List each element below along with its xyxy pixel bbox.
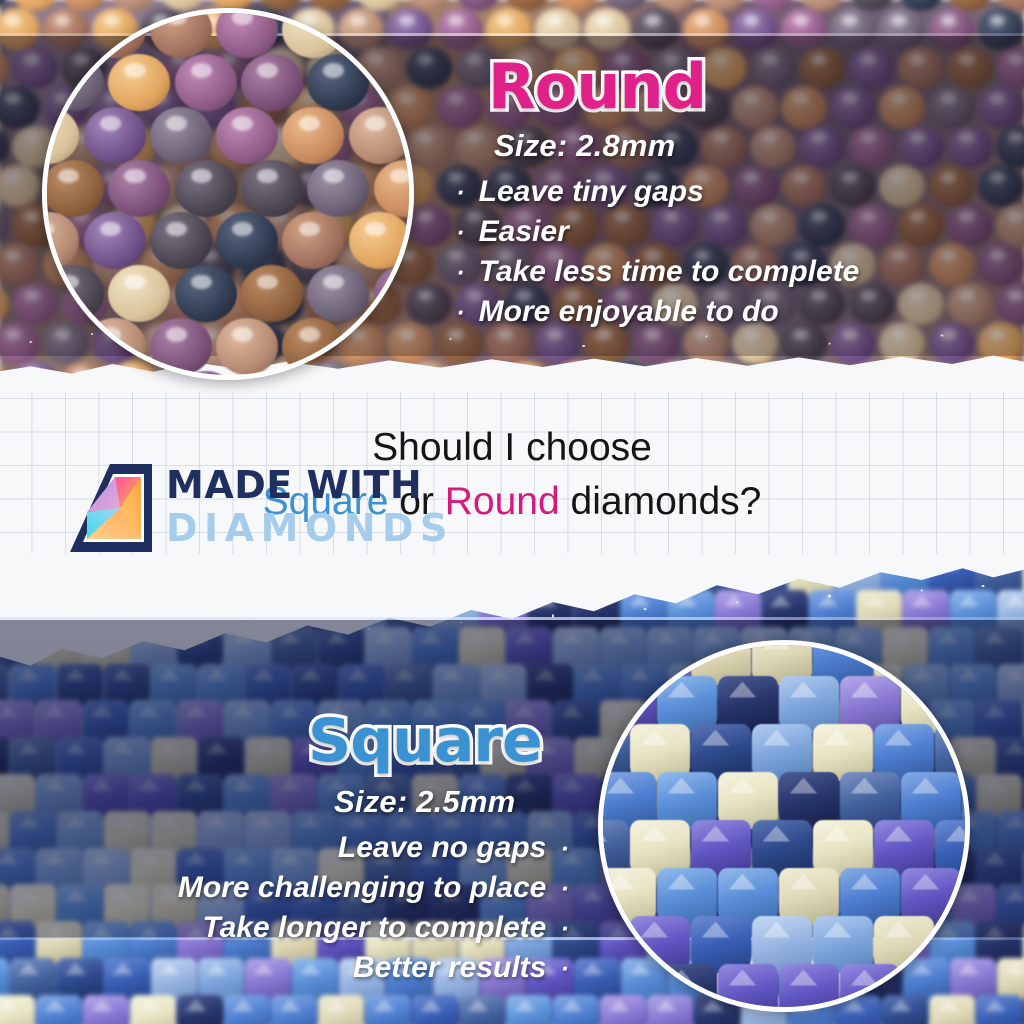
bullet-dot-icon: ·: [560, 835, 569, 861]
round-size-label: Size: 2.8mm: [494, 128, 675, 164]
list-item: ·More enjoyable to do: [456, 292, 859, 332]
bullet-dot-icon: ·: [456, 179, 465, 205]
square-diamond-magnifier: [598, 640, 970, 1012]
list-item-label: Leave no gaps: [338, 828, 546, 868]
brand-wordmark: MADE WITH DIAMONDS: [166, 464, 454, 550]
list-item: ·Leave tiny gaps: [456, 172, 859, 212]
round-diamond-magnifier: [42, 8, 414, 380]
list-item-label: Easier: [479, 212, 569, 252]
list-item: More challenging to place·: [178, 868, 569, 908]
bullet-dot-icon: ·: [456, 299, 465, 325]
square-size-label: Size: 2.5mm: [334, 784, 515, 820]
list-item-label: More enjoyable to do: [479, 292, 779, 332]
list-item-label: Take less time to complete: [479, 252, 860, 292]
question-word-round: Round: [445, 480, 560, 523]
bullet-dot-icon: ·: [560, 915, 569, 941]
round-benefits-list: ·Leave tiny gaps·Easier·Take less time t…: [456, 172, 859, 332]
brand-line-made-with: MADE WITH: [166, 464, 454, 506]
bullet-dot-icon: ·: [456, 219, 465, 245]
list-item-label: Better results: [353, 948, 546, 988]
brand-line-diamonds: DIAMONDS: [166, 506, 454, 550]
list-item-label: Take longer to complete: [202, 908, 546, 948]
square-magnifier-content: [603, 645, 965, 1007]
square-section-title: Square: [308, 706, 542, 776]
round-section-title: Round: [488, 50, 706, 123]
list-item-label: More challenging to place: [178, 868, 546, 908]
square-benefits-list: Leave no gaps·More challenging to place·…: [178, 828, 569, 988]
list-item: Leave no gaps·: [338, 828, 569, 868]
square-band-hairline-top: [0, 617, 1024, 620]
list-item: ·Easier: [456, 212, 859, 252]
list-item-label: Leave tiny gaps: [479, 172, 704, 212]
list-item: Better results·: [353, 948, 569, 988]
diamond-painting-comparison-infographic: Round Size: 2.8mm ·Leave tiny gaps·Easie…: [0, 0, 1024, 1024]
question-tail: diamonds?: [560, 480, 762, 523]
brand-logo: MADE WITH DIAMONDS: [68, 462, 388, 554]
bullet-dot-icon: ·: [560, 955, 569, 981]
round-magnifier-content: [47, 13, 409, 375]
diamond-gem-logo-mark: [68, 462, 154, 554]
list-item: Take longer to complete·: [202, 908, 569, 948]
bullet-dot-icon: ·: [456, 259, 465, 285]
list-item: ·Take less time to complete: [456, 252, 859, 292]
bullet-dot-icon: ·: [560, 875, 569, 901]
